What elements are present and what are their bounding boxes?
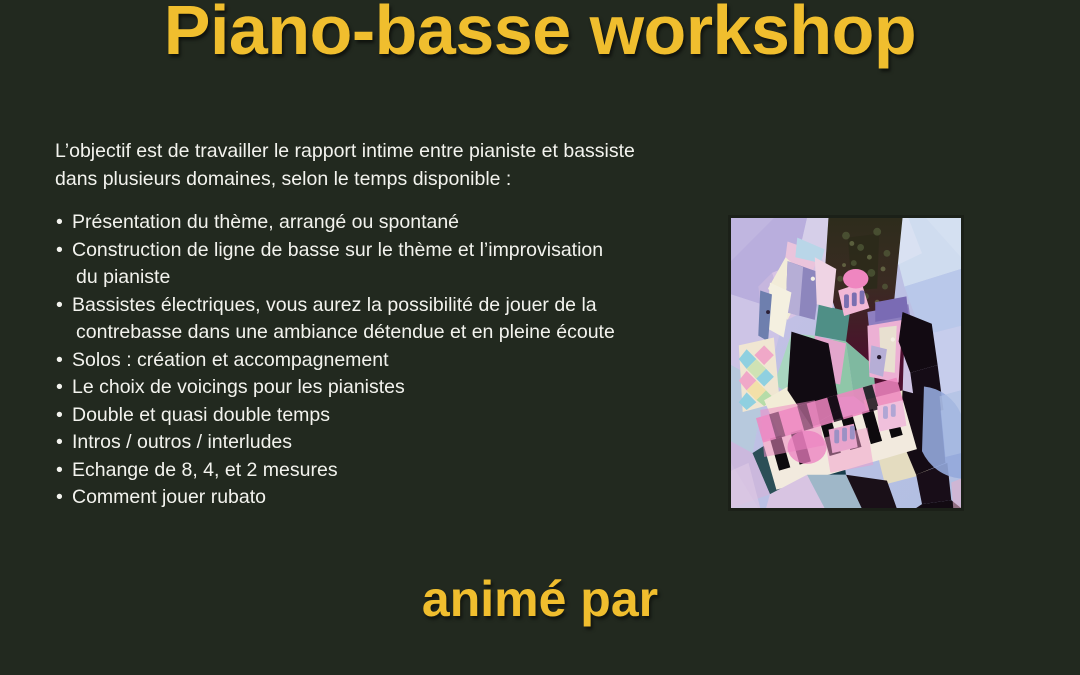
- topics-list: • Présentation du thème, arrangé ou spon…: [55, 209, 705, 512]
- presented-by-label: animé par: [0, 568, 1080, 630]
- intro-line-2: dans plusieurs domaines, selon le temps …: [55, 165, 695, 193]
- slide-root: Piano-basse workshop L’objectif est de t…: [0, 0, 1080, 675]
- cubist-musicians-painting: [731, 218, 961, 508]
- list-item-line-1: Double et quasi double temps: [72, 402, 705, 430]
- bullet-icon: •: [56, 347, 63, 375]
- bullet-icon: •: [56, 429, 63, 457]
- list-item: • Bassistes électriques, vous aurez la p…: [55, 292, 705, 347]
- list-item-line-1: Construction de ligne de basse sur le th…: [72, 237, 705, 265]
- list-item: • Intros / outros / interludes: [55, 429, 705, 457]
- list-item-line-1: Comment jouer rubato: [72, 484, 705, 512]
- bullet-icon: •: [56, 484, 63, 512]
- list-item: • Comment jouer rubato: [55, 484, 705, 512]
- bullet-icon: •: [56, 402, 63, 430]
- list-item-line-1: Intros / outros / interludes: [72, 429, 705, 457]
- painting-svg: [731, 218, 961, 508]
- list-item-line-2: du pianiste: [72, 264, 705, 292]
- list-item-line-1: Bassistes électriques, vous aurez la pos…: [72, 292, 705, 320]
- list-item-line-2: contrebasse dans une ambiance détendue e…: [72, 319, 705, 347]
- list-item: • Construction de ligne de basse sur le …: [55, 237, 705, 292]
- list-item: • Echange de 8, 4, et 2 mesures: [55, 457, 705, 485]
- page-title: Piano-basse workshop: [0, 0, 1080, 74]
- intro-paragraph: L’objectif est de travailler le rapport …: [55, 137, 695, 193]
- bullet-icon: •: [56, 209, 63, 237]
- list-item: • Le choix de voicings pour les pianiste…: [55, 374, 705, 402]
- bullet-icon: •: [56, 457, 63, 485]
- bullet-icon: •: [56, 374, 63, 402]
- list-item: • Solos : création et accompagnement: [55, 347, 705, 375]
- list-item-line-1: Echange de 8, 4, et 2 mesures: [72, 457, 705, 485]
- list-item-line-1: Le choix de voicings pour les pianistes: [72, 374, 705, 402]
- bullet-icon: •: [56, 292, 63, 320]
- list-item: • Présentation du thème, arrangé ou spon…: [55, 209, 705, 237]
- list-item: • Double et quasi double temps: [55, 402, 705, 430]
- intro-line-1: L’objectif est de travailler le rapport …: [55, 137, 695, 165]
- list-item-line-1: Solos : création et accompagnement: [72, 347, 705, 375]
- artwork-frame: [728, 215, 964, 511]
- bullet-icon: •: [56, 237, 63, 265]
- list-item-line-1: Présentation du thème, arrangé ou sponta…: [72, 209, 705, 237]
